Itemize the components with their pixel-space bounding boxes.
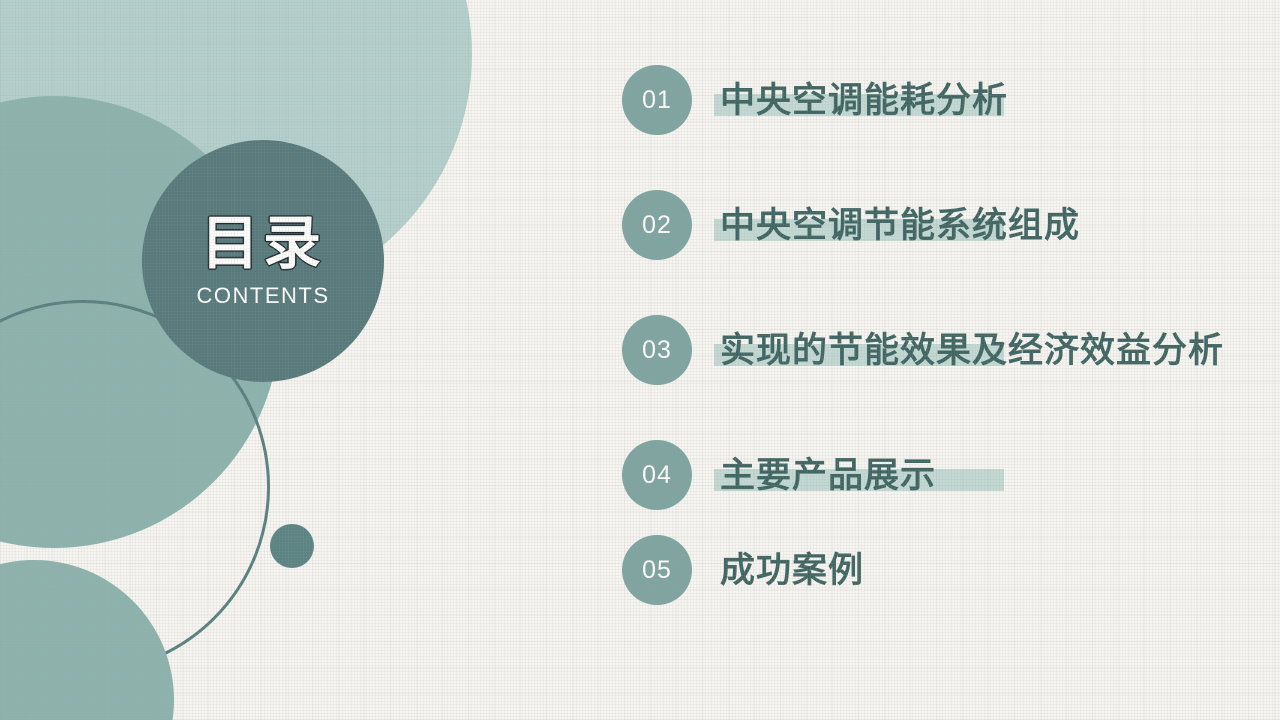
- toc-item-label: 主要产品展示: [720, 456, 936, 495]
- toc-item-label: 中央空调能耗分析: [720, 81, 1008, 120]
- toc-item-label: 成功案例: [720, 551, 864, 590]
- contents-title-en: CONTENTS: [197, 285, 330, 307]
- toc-number-badge: 05: [622, 535, 692, 605]
- table-of-contents-list: 01 中央空调能耗分析 02 中央空调节能系统组成 03 实现的节能效果及经济效…: [622, 62, 1262, 608]
- toc-number-badge: 04: [622, 440, 692, 510]
- toc-number-badge: 01: [622, 65, 692, 135]
- toc-label-wrap: 成功案例: [720, 553, 864, 588]
- toc-item-label: 中央空调节能系统组成: [720, 206, 1080, 245]
- toc-item-02[interactable]: 02 中央空调节能系统组成: [622, 187, 1262, 263]
- contents-badge: 目录 CONTENTS: [142, 140, 384, 382]
- toc-item-label: 实现的节能效果及经济效益分析: [720, 331, 1224, 370]
- toc-item-03[interactable]: 03 实现的节能效果及经济效益分析: [622, 312, 1262, 388]
- toc-item-01[interactable]: 01 中央空调能耗分析: [622, 62, 1262, 138]
- toc-item-04[interactable]: 04 主要产品展示: [622, 437, 1262, 513]
- toc-number-badge: 03: [622, 315, 692, 385]
- toc-label-wrap: 中央空调节能系统组成: [720, 208, 1080, 243]
- toc-item-05[interactable]: 05 成功案例: [622, 532, 1262, 608]
- presentation-slide: 目录 CONTENTS 01 中央空调能耗分析 02 中央空调节能系统组成 03…: [0, 0, 1280, 720]
- toc-label-wrap: 主要产品展示: [720, 458, 936, 493]
- toc-number-badge: 02: [622, 190, 692, 260]
- toc-label-wrap: 实现的节能效果及经济效益分析: [720, 333, 1224, 368]
- contents-title-cn: 目录: [201, 215, 325, 273]
- toc-label-wrap: 中央空调能耗分析: [720, 83, 1008, 118]
- decor-small-dot: [270, 524, 314, 568]
